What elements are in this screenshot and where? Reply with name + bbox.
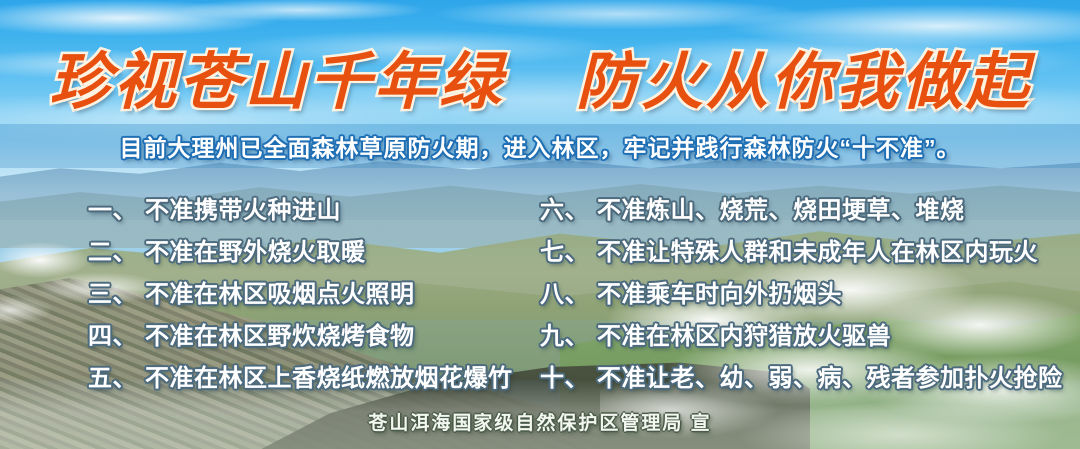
rule-item: 十、不准让老、幼、弱、病、残者参加扑火抢险 (540, 358, 1080, 400)
rule-number: 七、 (540, 239, 589, 266)
rule-item: 三、不准在林区吸烟点火照明 (88, 274, 540, 316)
rule-item: 七、不准让特殊人群和未成年人在林区内玩火 (540, 232, 1080, 274)
rule-number: 六、 (540, 197, 589, 224)
rule-text: 不准在林区内狩猎放火驱兽 (597, 323, 891, 350)
rule-text: 不准在野外烧火取暖 (145, 239, 366, 266)
rule-item: 八、不准乘车时向外扔烟头 (540, 274, 1080, 316)
subtitle: 目前大理州已全面森林草原防火期，进入林区，牢记并践行森林防火“十不准”。 (0, 126, 1080, 166)
rule-text: 不准让老、幼、弱、病、残者参加扑火抢险 (597, 365, 1063, 392)
rule-number: 四、 (88, 323, 137, 350)
rule-item: 二、不准在野外烧火取暖 (88, 232, 540, 274)
rule-text: 不准让特殊人群和未成年人在林区内玩火 (597, 239, 1038, 266)
forest-fire-prevention-poster: 珍视苍山千年绿 防火从你我做起 目前大理州已全面森林草原防火期，进入林区，牢记并… (0, 0, 1080, 449)
rule-item: 九、不准在林区内狩猎放火驱兽 (540, 316, 1080, 358)
footer-attribution: 苍山洱海国家级自然保护区管理局 宣 (0, 406, 1080, 436)
rule-text: 不准炼山、烧荒、烧田埂草、堆烧 (597, 197, 965, 224)
rule-item: 六、不准炼山、烧荒、烧田埂草、堆烧 (540, 190, 1080, 232)
rule-number: 一、 (88, 197, 137, 224)
rule-number: 五、 (88, 365, 137, 392)
rule-item: 四、不准在林区野炊烧烤食物 (88, 316, 540, 358)
rule-item: 五、不准在林区上香烧纸燃放烟花爆竹 (88, 358, 540, 400)
rule-text: 不准在林区吸烟点火照明 (145, 281, 415, 308)
rule-number: 三、 (88, 281, 137, 308)
rule-number: 十、 (540, 365, 589, 392)
rule-number: 二、 (88, 239, 137, 266)
rule-text: 不准乘车时向外扔烟头 (597, 281, 842, 308)
rule-text: 不准携带火种进山 (145, 197, 341, 224)
rule-item: 一、不准携带火种进山 (88, 190, 540, 232)
rule-number: 八、 (540, 281, 589, 308)
rule-text: 不准在林区野炊烧烤食物 (145, 323, 415, 350)
rules-list: 一、不准携带火种进山 二、不准在野外烧火取暖 三、不准在林区吸烟点火照明 四、不… (0, 190, 1080, 400)
rule-text: 不准在林区上香烧纸燃放烟花爆竹 (145, 365, 513, 392)
rules-column-left: 一、不准携带火种进山 二、不准在野外烧火取暖 三、不准在林区吸烟点火照明 四、不… (0, 190, 540, 400)
rules-column-right: 六、不准炼山、烧荒、烧田埂草、堆烧 七、不准让特殊人群和未成年人在林区内玩火 八… (540, 190, 1080, 400)
rule-number: 九、 (540, 323, 589, 350)
